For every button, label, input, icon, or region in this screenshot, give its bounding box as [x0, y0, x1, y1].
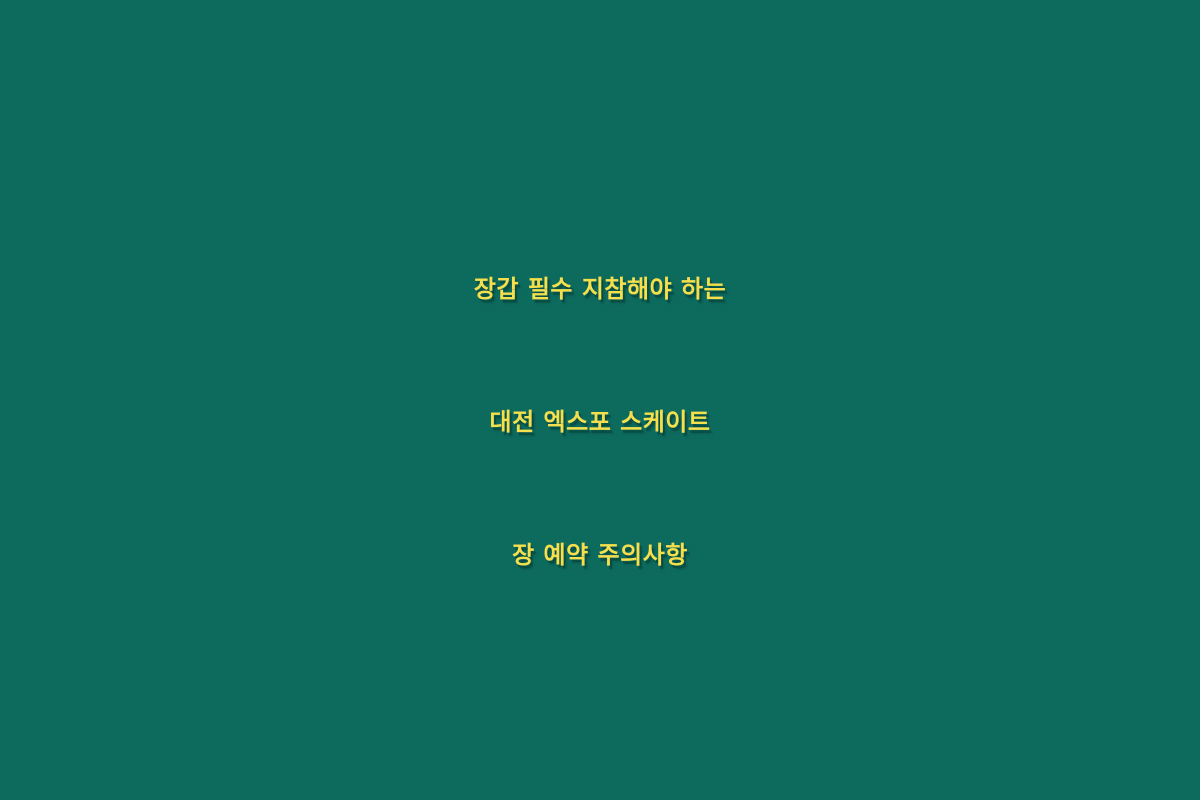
headline-line-2: 대전 엑스포 스케이트 — [0, 356, 1200, 489]
headline-line-1: 장갑 필수 지참해야 하는 — [0, 223, 1200, 356]
headline-block: 장갑 필수 지참해야 하는 대전 엑스포 스케이트 장 예약 주의사항 — [0, 223, 1200, 622]
banner-canvas: 장갑 필수 지참해야 하는 대전 엑스포 스케이트 장 예약 주의사항 — [0, 0, 1200, 800]
headline-line-3: 장 예약 주의사항 — [0, 489, 1200, 622]
